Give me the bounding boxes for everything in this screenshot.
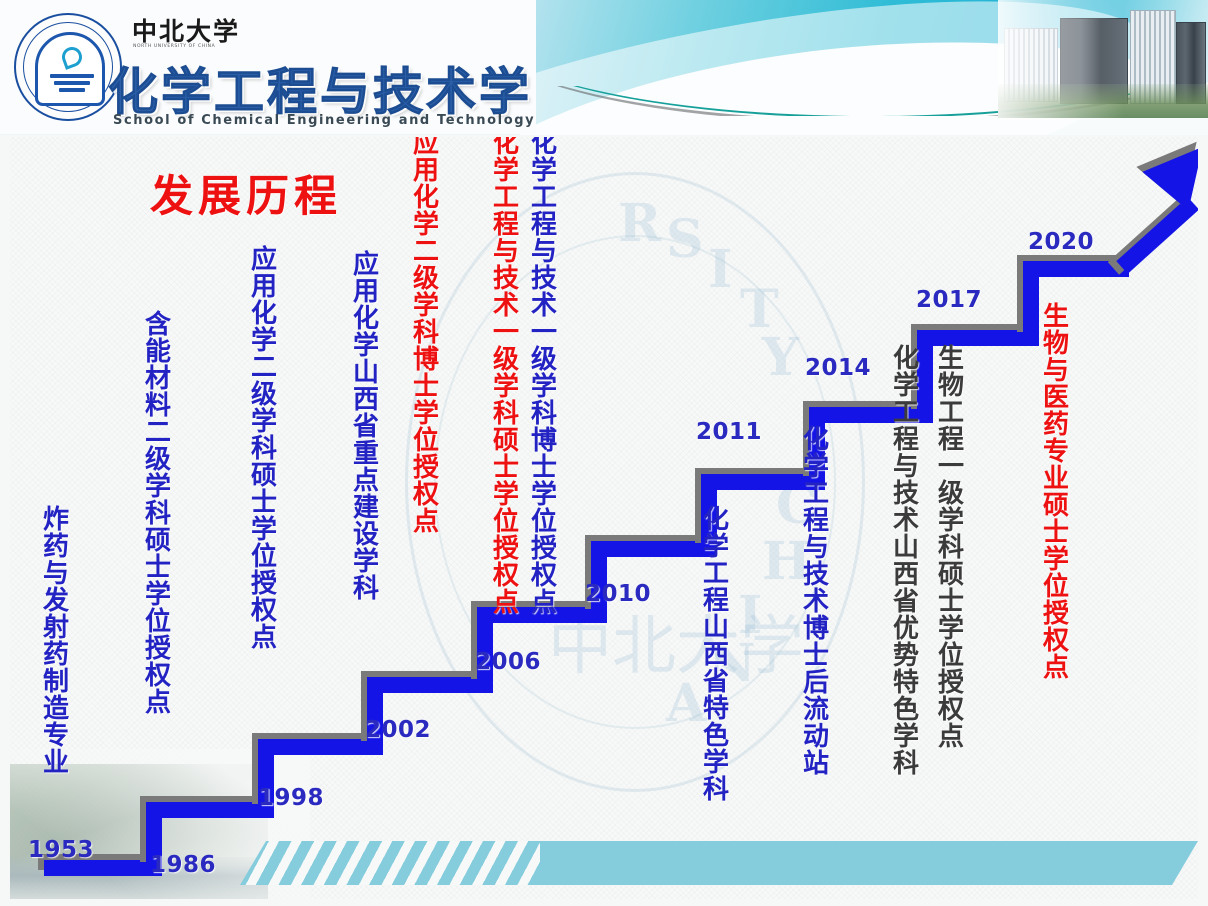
year-label-2002: 2002 <box>365 717 431 743</box>
year-label-2017: 2017 <box>916 287 982 313</box>
page-header: 中北大学 NORTH UNIVERSITY OF CHINA 化学工程与技术学院… <box>0 0 1208 135</box>
milestone-1986: 含能材料二级学科硕士学位授权点 <box>142 310 169 715</box>
school-name-en: School of Chemical Engineering and Techn… <box>113 113 535 128</box>
year-label-2011: 2011 <box>696 419 762 445</box>
header-photo-fade <box>998 0 1208 120</box>
university-mark-en: NORTH UNIVERSITY OF CHINA <box>133 44 215 49</box>
year-label-1998: 1998 <box>258 785 324 811</box>
year-label-2014: 2014 <box>805 355 871 381</box>
milestone-2006-b: 化学工程与技术一级学科硕士学位授权点 <box>490 137 517 615</box>
milestone-2014: 化学工程与技术博士后流动站 <box>800 425 827 776</box>
year-label-1953: 1953 <box>28 837 94 863</box>
milestone-2006-a: 应用化学二级学科博士学位授权点 <box>410 137 437 534</box>
milestone-2010: 化学工程与技术一级学科博士学位授权点 <box>528 137 555 615</box>
year-label-1986: 1986 <box>150 852 216 878</box>
year-label-2010: 2010 <box>585 581 651 607</box>
university-mark-cn: 中北大学 <box>132 12 240 48</box>
milestone-2002: 应用化学山西省重点建设学科 <box>350 250 377 601</box>
milestone-1953: 炸药与发射药制造专业 <box>40 505 67 775</box>
year-label-2020: 2020 <box>1028 229 1094 255</box>
content-board: R S I T Y C H I N A 中北大学 <box>10 137 1198 899</box>
milestone-2017-b: 化学工程与技术山西省优势特色学科 <box>890 344 917 776</box>
milestone-1998: 应用化学二级学科硕士学位授权点 <box>248 245 275 650</box>
university-seal-icon <box>14 13 122 121</box>
slide-canvas: 中北大学 NORTH UNIVERSITY OF CHINA 化学工程与技术学院… <box>0 0 1208 906</box>
year-label-2006: 2006 <box>475 649 541 675</box>
milestone-2020: 生物与医药专业硕士学位授权点 <box>1040 302 1067 680</box>
header-logo-panel: 中北大学 NORTH UNIVERSITY OF CHINA 化学工程与技术学院… <box>0 0 536 134</box>
milestone-2011: 化学工程山西省特色学科 <box>700 505 727 802</box>
staircase-graphic <box>10 137 1198 899</box>
milestone-2017-a: 生物工程一级学科硕士学位授权点 <box>935 344 962 749</box>
page-title: 发展历程 <box>150 162 342 224</box>
